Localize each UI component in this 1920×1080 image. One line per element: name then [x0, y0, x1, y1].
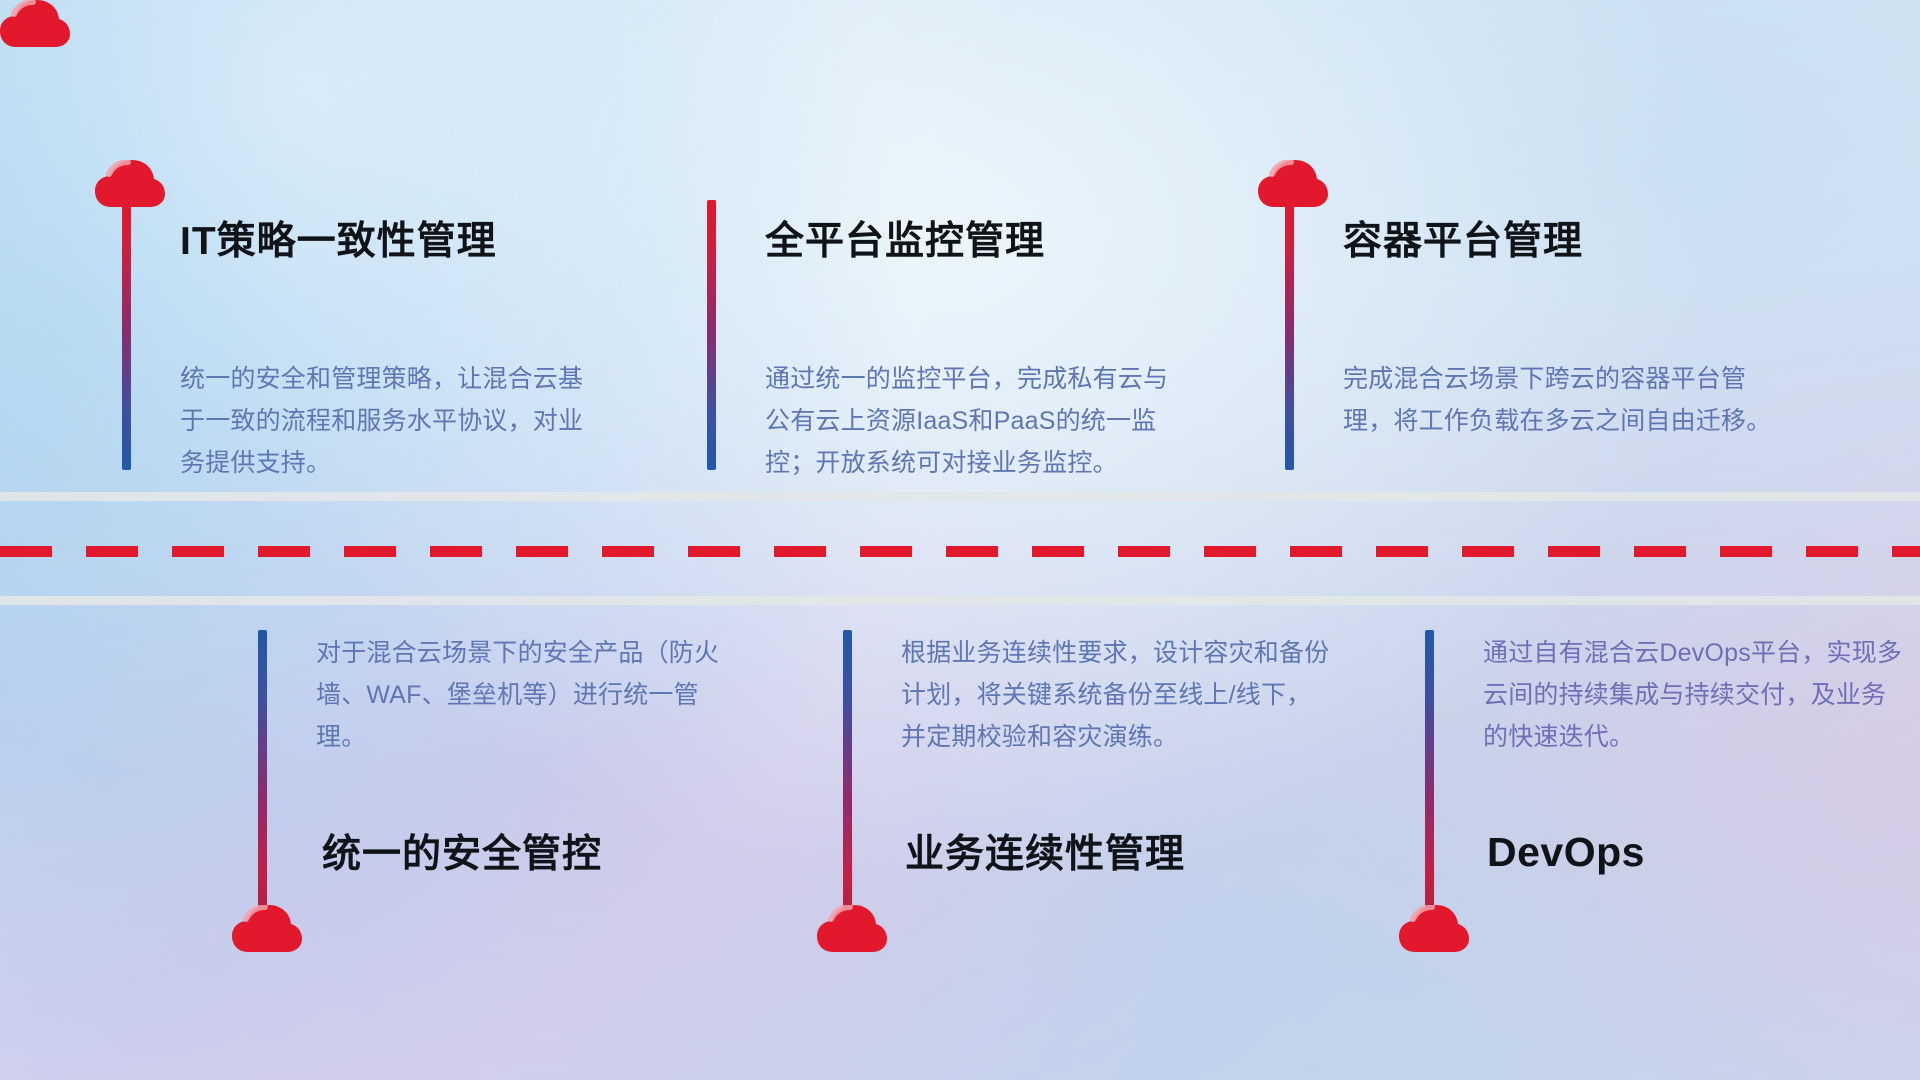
bottom-item-2-description: 根据业务连续性要求，设计容灾和备份计划，将关键系统备份至线上/线下，并定期校验和…	[901, 632, 1331, 758]
bottom-item-1-title: 统一的安全管控	[322, 835, 602, 874]
top-item-1-title: IT策略一致性管理	[180, 222, 497, 261]
top-item-2-description: 通过统一的监控平台，完成私有云与公有云上资源IaaS和PaaS的统一监控；开放系…	[765, 358, 1190, 484]
bottom-item-3-description: 通过自有混合云DevOps平台，实现多云间的持续集成与持续交付，及业务的快速迭代…	[1483, 632, 1903, 758]
connector-bar	[843, 630, 852, 920]
bottom-item-3-title: DevOps	[1487, 832, 1645, 873]
cloud-pin-icon	[0, 0, 70, 50]
connector-bar	[1285, 200, 1294, 470]
bottom-item-1-description: 对于混合云场景下的安全产品（防火墙、WAF、堡垒机等）进行统一管理。	[316, 632, 746, 758]
connector-bar	[1425, 630, 1434, 920]
divider-rule-bottom	[0, 596, 1920, 605]
cloud-pin-icon	[817, 905, 887, 955]
connector-bar	[707, 200, 716, 470]
bottom-item-2-title: 业务连续性管理	[905, 835, 1185, 874]
infographic-canvas: IT策略一致性管理 统一的安全和管理策略，让混合云基于一致的流程和服务水平协议，…	[0, 0, 1920, 1080]
divider-dashed-line	[0, 546, 1920, 557]
top-item-3-description: 完成混合云场景下跨云的容器平台管理，将工作负载在多云之间自由迁移。	[1343, 358, 1783, 442]
top-item-1-description: 统一的安全和管理策略，让混合云基于一致的流程和服务水平协议，对业务提供支持。	[180, 358, 605, 484]
cloud-pin-icon	[232, 905, 302, 955]
connector-bar	[258, 630, 267, 920]
divider-rule-top	[0, 492, 1920, 501]
top-item-2-title: 全平台监控管理	[765, 222, 1045, 261]
top-item-3-title: 容器平台管理	[1343, 222, 1583, 261]
cloud-pin-icon	[1399, 905, 1469, 955]
connector-bar	[122, 200, 131, 470]
